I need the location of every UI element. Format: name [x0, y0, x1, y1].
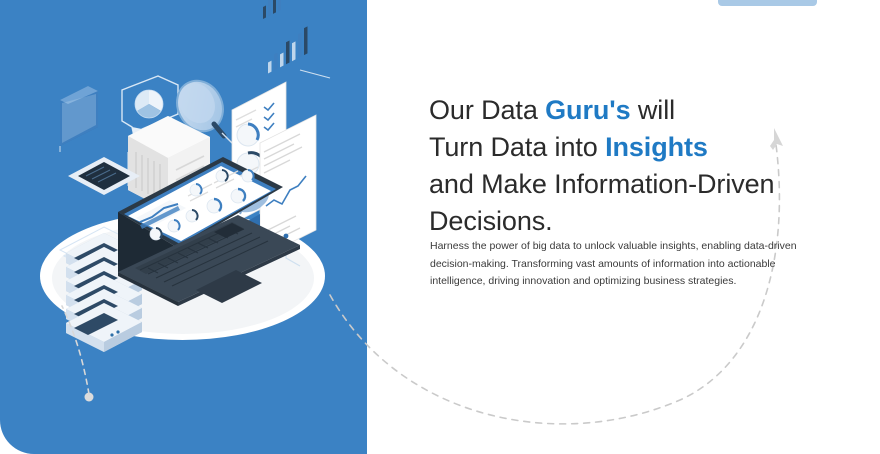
left-blue-panel: [0, 0, 367, 454]
server-box-icon: [128, 116, 210, 211]
stage-ellipse-shadow: [52, 222, 314, 334]
headline-line1-after: will: [631, 95, 676, 125]
top-accent-tab: [718, 0, 817, 6]
headline-line-1: Our Data Guru's will: [429, 92, 829, 129]
headline-line2-before: Turn Data into: [429, 132, 605, 162]
plant-leaf-icon: [232, 180, 269, 214]
connector-lines: [128, 70, 330, 186]
headline-line1-before: Our Data: [429, 95, 545, 125]
document-sheet-back-icon: [216, 0, 286, 224]
folder-icon: [60, 86, 98, 152]
headline-line-4: Decisions.: [429, 203, 829, 240]
pie-chart-bubble-icon: [122, 76, 178, 146]
headline-line-3: and Make Information-Driven: [429, 166, 829, 203]
server-chip-icon: [68, 157, 140, 195]
page-title: Our Data Guru's will Turn Data into Insi…: [429, 92, 829, 240]
headline-accent-gurus: Guru's: [545, 95, 630, 125]
hero-banner: Our Data Guru's will Turn Data into Insi…: [0, 0, 880, 454]
magnifier-icon: [168, 73, 244, 155]
headline-accent-insights: Insights: [605, 132, 708, 162]
body-paragraph: Harness the power of big data to unlock …: [430, 238, 830, 291]
headline-line-2: Turn Data into Insights: [429, 129, 829, 166]
